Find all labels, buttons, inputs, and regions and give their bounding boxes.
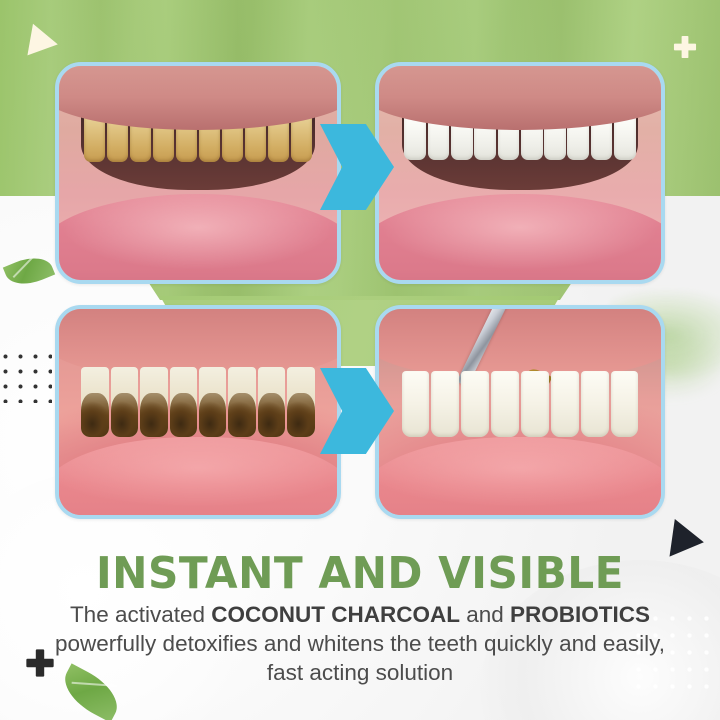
photo-tartar-closeup (59, 309, 337, 515)
upper-lip (55, 62, 341, 130)
tooth (551, 371, 579, 437)
tooth (81, 367, 108, 437)
photo-stained-smile (59, 66, 337, 280)
plus-icon (674, 36, 696, 58)
promo-description: The activated COCONUT CHARCOAL and PROBI… (38, 600, 682, 687)
tooth (461, 371, 489, 437)
tooth (287, 367, 314, 437)
panel-after-cleaned (375, 305, 665, 519)
triangle-right-icon (27, 24, 60, 60)
panel-after-smile (375, 62, 665, 284)
promo-image-canvas: INSTANT AND VISIBLE The activated COCONU… (0, 0, 720, 720)
panel-before-tartar (55, 305, 341, 519)
tooth (258, 367, 285, 437)
tooth (228, 367, 255, 437)
photo-cleaned-closeup (379, 309, 661, 515)
description-line-2: powerfully detoxifies and whitens the te… (55, 631, 553, 656)
dot-grid-icon (0, 349, 52, 403)
tooth (521, 371, 549, 437)
tooth (431, 371, 459, 437)
upper-gum (375, 305, 665, 379)
tooth (491, 371, 519, 437)
photo-white-smile (379, 66, 661, 280)
lower-gum (55, 437, 341, 519)
page-title: INSTANT AND VISIBLE (14, 548, 705, 599)
teeth-with-tartar (81, 367, 315, 437)
tooth (581, 371, 609, 437)
teeth-clean (402, 371, 639, 437)
panel-before-smile (55, 62, 341, 284)
lower-gum (375, 437, 665, 519)
tooth (140, 367, 167, 437)
upper-lip (375, 62, 665, 130)
tooth (402, 371, 430, 437)
tooth (111, 367, 138, 437)
lower-lip (375, 194, 665, 284)
tooth (170, 367, 197, 437)
tooth (199, 367, 226, 437)
lower-lip (55, 194, 341, 284)
tooth (611, 371, 639, 437)
description-line-1: The activated COCONUT CHARCOAL and PROBI… (70, 602, 650, 627)
